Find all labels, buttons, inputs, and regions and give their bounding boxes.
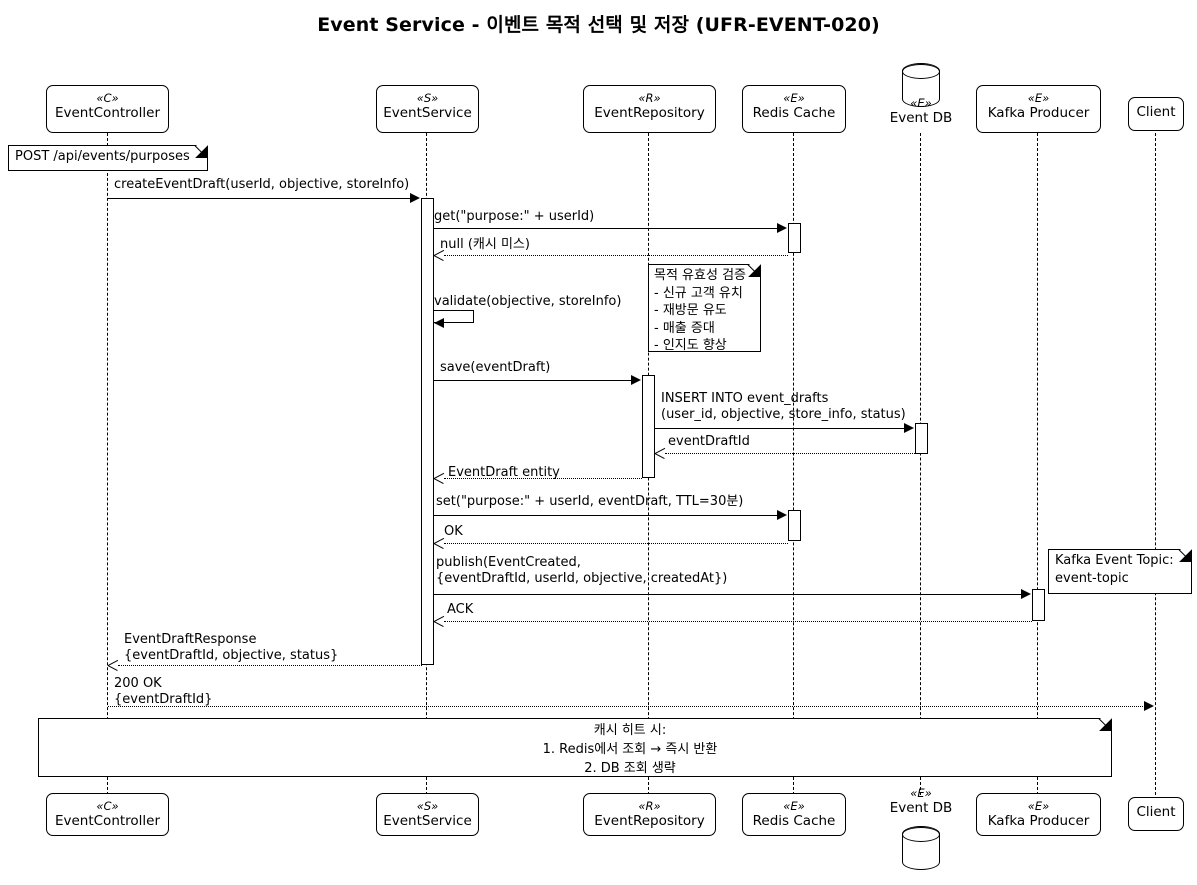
arrowhead-create-event-draft [410,193,420,203]
message-label-insert-into-event-drafts: INSERT INTO event_drafts (user_id, objec… [661,391,906,423]
activation-bar-kafka-publish [1032,589,1045,621]
database-cylinder-eventdb-bottom [902,826,940,870]
participant-name: EventController [47,813,168,831]
activation-bar-eventdb-insert [915,423,928,454]
participant-stereotype: «E» [743,91,845,105]
activation-bar-service [421,198,434,665]
participant-header-eventdb[interactable]: «E» Event DB [871,96,971,134]
arrowhead-validate [434,318,444,328]
arrowhead-http-200-ok [1144,701,1154,711]
message-label-create-event-draft: createEventDraft(userId, objective, stor… [114,177,409,193]
participant-name: Event DB [871,800,971,818]
participant-footer-eventrepository[interactable]: «R» EventRepository [583,793,716,836]
lifeline-kafka [1037,133,1038,795]
diagram-title: Event Service - 이벤트 목적 선택 및 저장 (UFR-EVEN… [0,10,1197,37]
participant-stereotype: «E» [977,91,1100,105]
note-text: 목적 유효성 검증 - 신규 고객 유치 - 재방문 유도 - 매출 증대 - … [654,267,757,355]
message-line-cache-miss [444,255,788,256]
participant-header-rediscache[interactable]: «E» Redis Cache [742,85,846,133]
message-label-cache-miss: null (캐시 미스) [440,237,530,253]
sequence-diagram-canvas: Event Service - 이벤트 목적 선택 및 저장 (UFR-EVEN… [0,0,1197,885]
participant-stereotype: «R» [584,91,715,105]
participant-stereotype: «R» [584,799,715,813]
note-post-endpoint: POST /api/events/purposes [8,145,208,171]
participant-footer-kafkaproducer[interactable]: «E» Kafka Producer [976,793,1101,836]
participant-stereotype: «E» [977,799,1100,813]
message-label-kafka-publish: publish(EventCreated, {eventDraftId, use… [436,555,727,587]
lifeline-controller [107,133,108,795]
participant-name: EventController [47,105,168,123]
activation-bar-redis-get [788,223,801,253]
message-label-redis-ok: OK [444,524,463,540]
participant-footer-eventservice[interactable]: «S» EventService [376,793,479,836]
message-line-save-event-draft [434,380,632,381]
participant-name: Kafka Producer [977,813,1100,831]
message-line-kafka-publish [434,594,1022,595]
note-kafka-topic: Kafka Event Topic: event-topic [1048,549,1192,594]
participant-header-eventrepository[interactable]: «R» EventRepository [583,85,716,133]
participant-footer-eventdb[interactable]: «E» Event DB [871,786,971,824]
message-line-insert-into-event-drafts [655,428,905,429]
message-line-kafka-ack [444,621,1032,622]
participant-name: EventRepository [584,105,715,123]
arrowhead-redis-get [777,223,787,233]
note-text: Kafka Event Topic: event-topic [1055,552,1188,588]
participant-name: Redis Cache [743,105,845,123]
participant-name: EventService [377,813,478,831]
participant-stereotype: «E» [871,786,971,800]
arrowhead-redis-set [777,510,787,520]
message-line-event-draft-id [665,453,915,454]
participant-stereotype: «C» [47,91,168,105]
participant-footer-rediscache[interactable]: «E» Redis Cache [742,793,846,836]
arrowhead-save-event-draft [631,375,641,385]
message-line-http-200-ok [108,706,1145,707]
activation-bar-repository-save [642,375,655,478]
note-cache-hit: 캐시 히트 시: 1. Redis에서 조회 → 즉시 반환 2. DB 조회 … [38,718,1112,777]
participant-footer-client[interactable]: Client [1128,797,1184,831]
message-label-kafka-ack: ACK [447,602,473,618]
message-line-redis-get [434,228,778,229]
participant-name: Client [1129,104,1183,122]
lifeline-eventdb [920,133,921,795]
participant-footer-eventcontroller[interactable]: «C» EventController [46,793,169,836]
participant-stereotype: «E» [871,96,971,110]
participant-name: Client [1129,804,1183,822]
message-line-create-event-draft [108,198,412,199]
message-line-redis-ok [444,543,788,544]
message-label-save-event-draft: save(eventDraft) [440,360,550,376]
message-line-event-draft-entity [444,478,642,479]
participant-header-kafkaproducer[interactable]: «E» Kafka Producer [976,85,1101,133]
participant-name: Redis Cache [743,813,845,831]
participant-stereotype: «C» [47,799,168,813]
participant-name: EventService [377,105,478,123]
message-label-http-200-ok: 200 OK {eventDraftId} [114,676,212,708]
note-text: POST /api/events/purposes [15,148,204,166]
note-objective-validation: 목적 유효성 검증 - 신규 고객 유치 - 재방문 유도 - 매출 증대 - … [648,264,761,352]
participant-name: EventRepository [584,813,715,831]
participant-header-client[interactable]: Client [1128,97,1184,131]
message-label-redis-get: get("purpose:" + userId) [434,209,594,225]
participant-header-eventservice[interactable]: «S» EventService [376,85,479,133]
arrowhead-kafka-publish [1021,589,1031,599]
participant-header-eventcontroller[interactable]: «C» EventController [46,85,169,133]
message-label-event-draft-response: EventDraftResponse {eventDraftId, object… [124,632,338,664]
lifeline-client [1155,133,1156,795]
arrowhead-insert-into-event-drafts [904,423,914,433]
message-line-event-draft-response [118,665,422,666]
message-line-redis-set [434,515,778,516]
note-text: 캐시 히트 시: 1. Redis에서 조회 → 즉시 반환 2. DB 조회 … [38,722,1112,779]
activation-bar-redis-set [788,510,801,541]
message-label-redis-set: set("purpose:" + userId, eventDraft, TTL… [436,494,743,510]
participant-stereotype: «S» [377,91,478,105]
participant-name: Kafka Producer [977,105,1100,123]
participant-stereotype: «S» [377,799,478,813]
participant-stereotype: «E» [743,799,845,813]
participant-name: Event DB [871,110,971,128]
message-label-event-draft-id: eventDraftId [668,434,750,450]
message-label-validate: validate(objective, storeInfo) [434,294,621,310]
